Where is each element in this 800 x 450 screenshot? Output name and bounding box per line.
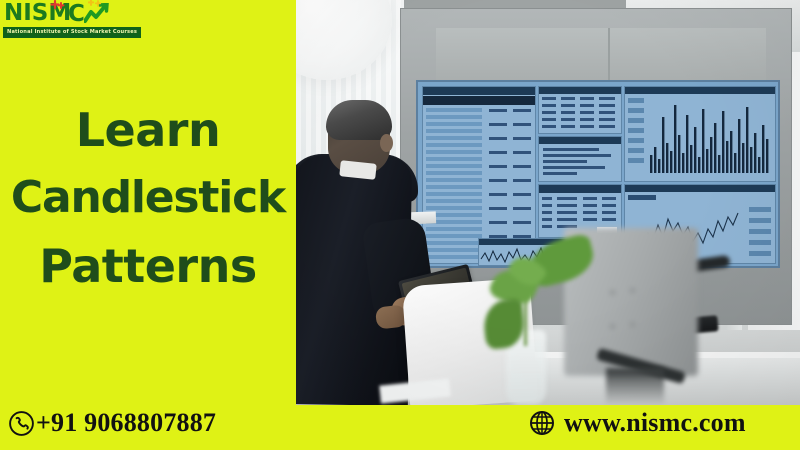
globe-icon bbox=[529, 410, 555, 436]
website-url: www.nismc.com bbox=[564, 408, 746, 438]
headline-line-1: Learn bbox=[0, 96, 296, 164]
page-title: Learn Candlestick Patterns bbox=[0, 96, 296, 300]
photo-vignette bbox=[296, 0, 800, 405]
headline-line-3: Patterns bbox=[0, 232, 296, 300]
hero-photo bbox=[296, 0, 800, 405]
phone-number: +91 9068807887 bbox=[36, 408, 216, 438]
logo-letter-c: C bbox=[68, 2, 85, 27]
logo-tagline: National Institute of Stock Market Cours… bbox=[3, 27, 141, 38]
logo-mark: NISM C bbox=[2, 1, 130, 27]
contact-website[interactable]: www.nismc.com bbox=[529, 408, 746, 438]
phone-in-circle-icon bbox=[8, 410, 35, 437]
sparkle-yellow-icon bbox=[88, 0, 106, 11]
sparkle-red-icon bbox=[50, 0, 66, 14]
headline-line-2: Candlestick bbox=[0, 164, 296, 232]
poster-canvas: NISM C National Institute of Stock Marke… bbox=[0, 0, 800, 450]
contact-phone[interactable]: +91 9068807887 bbox=[8, 408, 216, 438]
brand-logo[interactable]: NISM C National Institute of Stock Marke… bbox=[2, 1, 130, 45]
